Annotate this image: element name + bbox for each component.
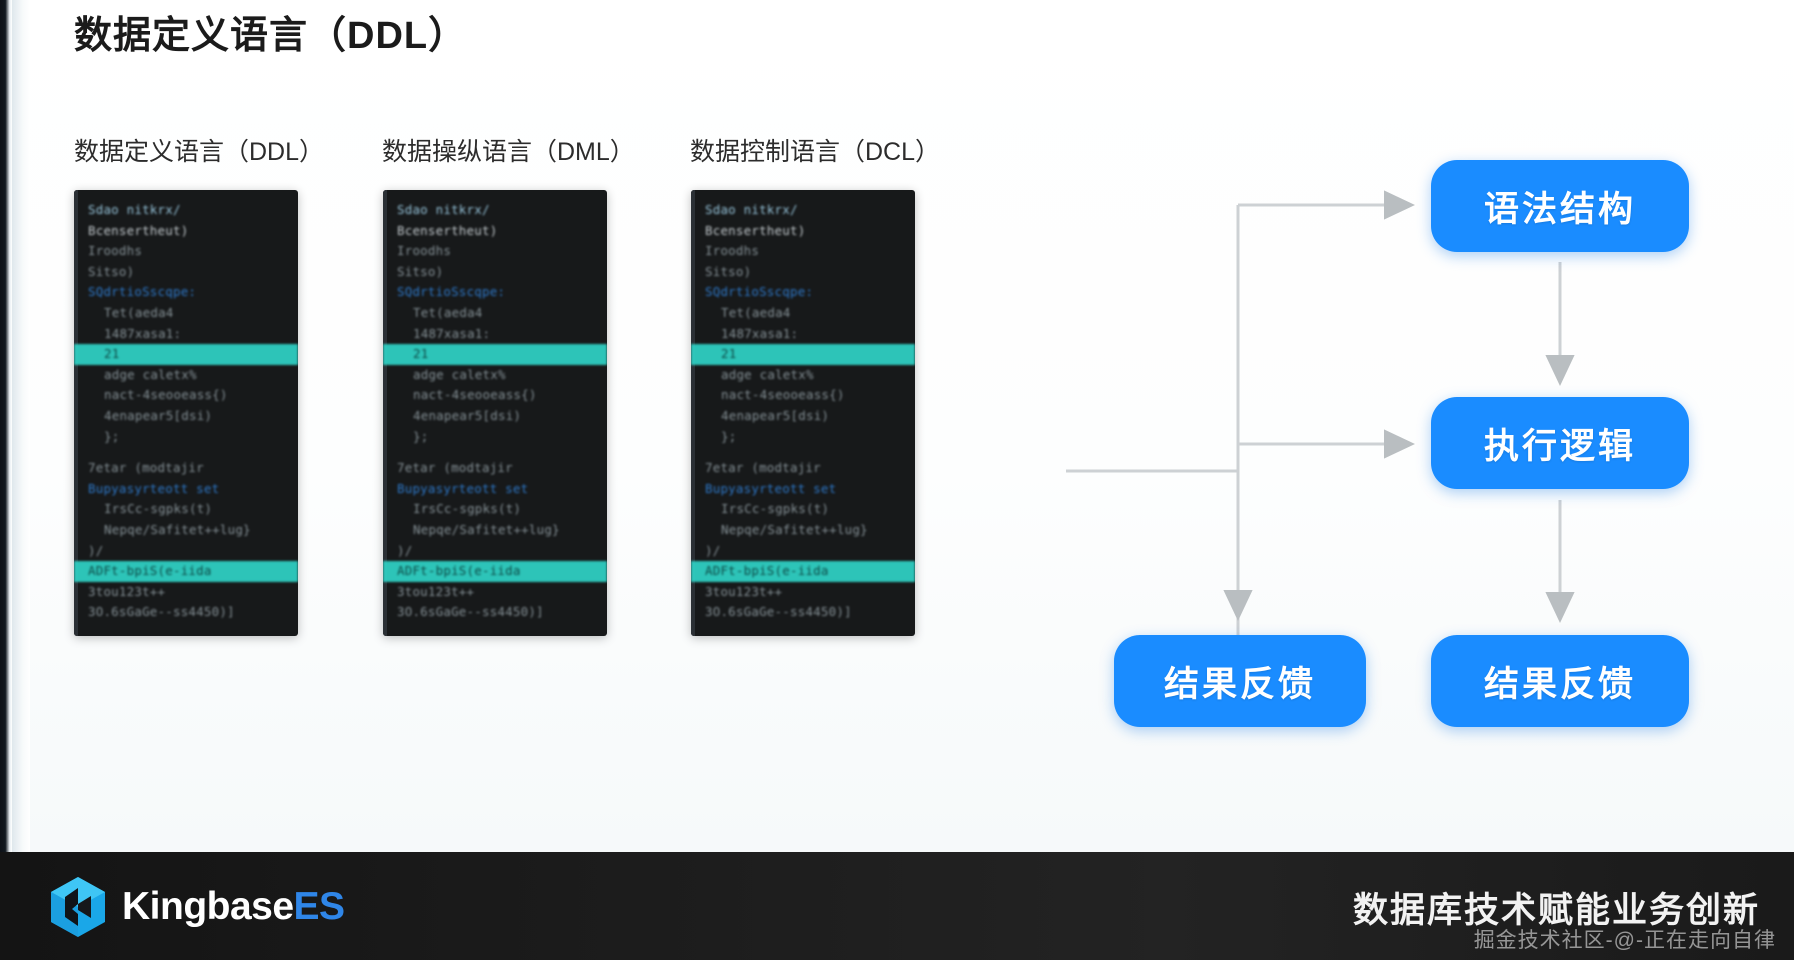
brand-name-primary: Kingbase <box>122 885 294 928</box>
brand-logo: KingbaseES <box>48 876 345 938</box>
slide-footer: KingbaseES 数据库技术赋能业务创新 掘金技术社区-@-正在走向自律 <box>0 852 1794 960</box>
flow-node-exec-logic[interactable]: 执行逻辑 <box>1431 397 1689 489</box>
watermark-text: 掘金技术社区-@-正在走向自律 <box>1474 924 1776 954</box>
brand-name-accent: ES <box>294 885 345 928</box>
kingbase-hexagon-icon <box>48 876 108 938</box>
flow-node-syntax[interactable]: 语法结构 <box>1431 160 1689 252</box>
flow-node-feedback-right[interactable]: 结果反馈 <box>1431 635 1689 727</box>
flow-node-feedback-left[interactable]: 结果反馈 <box>1114 635 1366 727</box>
slide-root: 数据定义语言（DDL） 数据定义语言（DDL） 数据操纵语言（DML） 数据控制… <box>0 0 1794 960</box>
brand-wordmark: KingbaseES <box>122 885 345 929</box>
